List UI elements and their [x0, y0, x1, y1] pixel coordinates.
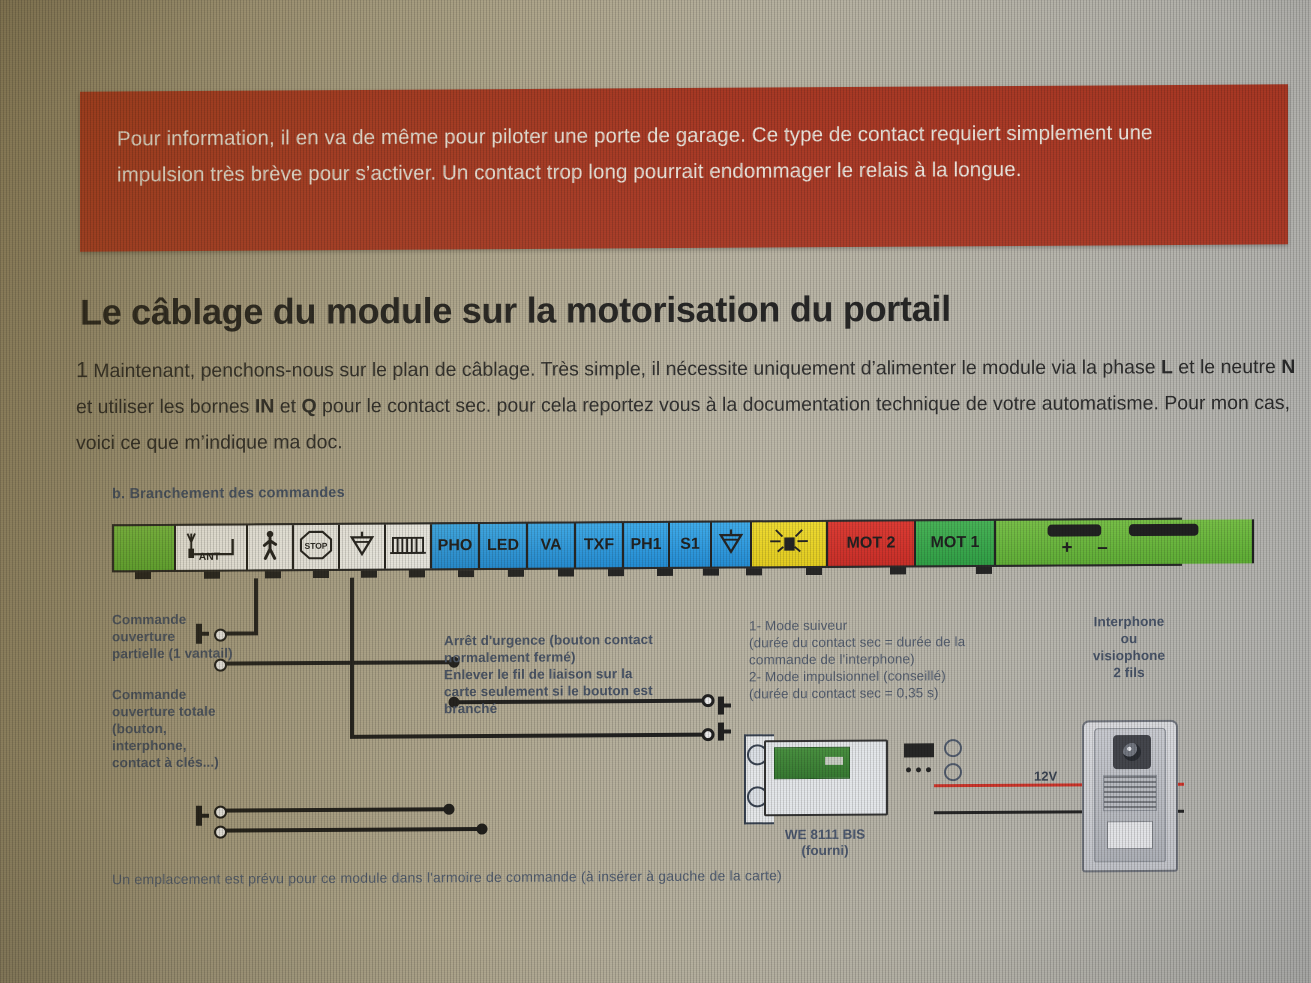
module-label: WE 8111 BIS (fourni) — [740, 826, 910, 859]
document-page: Pour information, il en va de même pour … — [0, 0, 1311, 983]
module-pcb — [774, 747, 850, 779]
terminal-Q-term: Q — [301, 395, 316, 417]
module-note: (fourni) — [801, 843, 848, 858]
intercom-faceplate — [1094, 728, 1166, 862]
module-name: WE 8111 BIS — [785, 827, 865, 842]
paragraph-part-1: Maintenant, penchons-nous sur le plan de… — [93, 356, 1161, 382]
module-chip — [825, 757, 843, 765]
intercom-device — [1082, 720, 1178, 873]
body-paragraph: 1Maintenant, penchons-nous sur le plan d… — [76, 348, 1311, 461]
annotation-intercom: Interphoneouvisiophone2 fils — [1059, 613, 1199, 682]
paragraph-part-3: et utiliser les bornes — [76, 396, 255, 419]
we-8111-bis-module — [764, 740, 888, 817]
callout-text: Pour information, il en va de même pour … — [117, 115, 1228, 194]
terminal-IN-term: IN — [255, 395, 275, 417]
terminal-circle — [214, 806, 227, 819]
screw-icon — [944, 763, 962, 781]
paragraph-part-2: et le neutre — [1173, 356, 1281, 378]
connector-dots — [904, 767, 938, 775]
camera-icon — [1113, 735, 1151, 769]
annotation-modes: 1- Mode suiveur(durée du contact sec = d… — [749, 616, 1019, 703]
connector-block — [904, 743, 934, 757]
neutral-N-term: N — [1281, 356, 1295, 378]
page-title: Le câblage du module sur la motorisation… — [80, 287, 1260, 334]
phase-L-term: L — [1161, 356, 1173, 378]
annotation-emergency-stop: Arrêt d'urgence (bouton contactnormaleme… — [444, 631, 694, 718]
screw-icon — [944, 739, 962, 757]
annotation-partial-open: Commandeouverturepartielle (1 vantail) — [112, 610, 272, 662]
full-open-button-symbol — [196, 806, 208, 826]
terminal-circle — [214, 826, 227, 839]
paragraph-part-4: et — [274, 395, 301, 417]
voltage-label: 12V — [1034, 769, 1057, 784]
wiring-diagram: b. Branchement des commandes ANTSTOPPHOL… — [104, 480, 1196, 902]
annotation-full-open: Commandeouverture totale(bouton,interpho… — [112, 685, 282, 771]
call-button — [1107, 821, 1153, 849]
speaker-grille-icon — [1103, 775, 1157, 811]
step-number: 1 — [76, 352, 93, 388]
info-callout-box: Pour information, il en va de même pour … — [80, 84, 1288, 251]
